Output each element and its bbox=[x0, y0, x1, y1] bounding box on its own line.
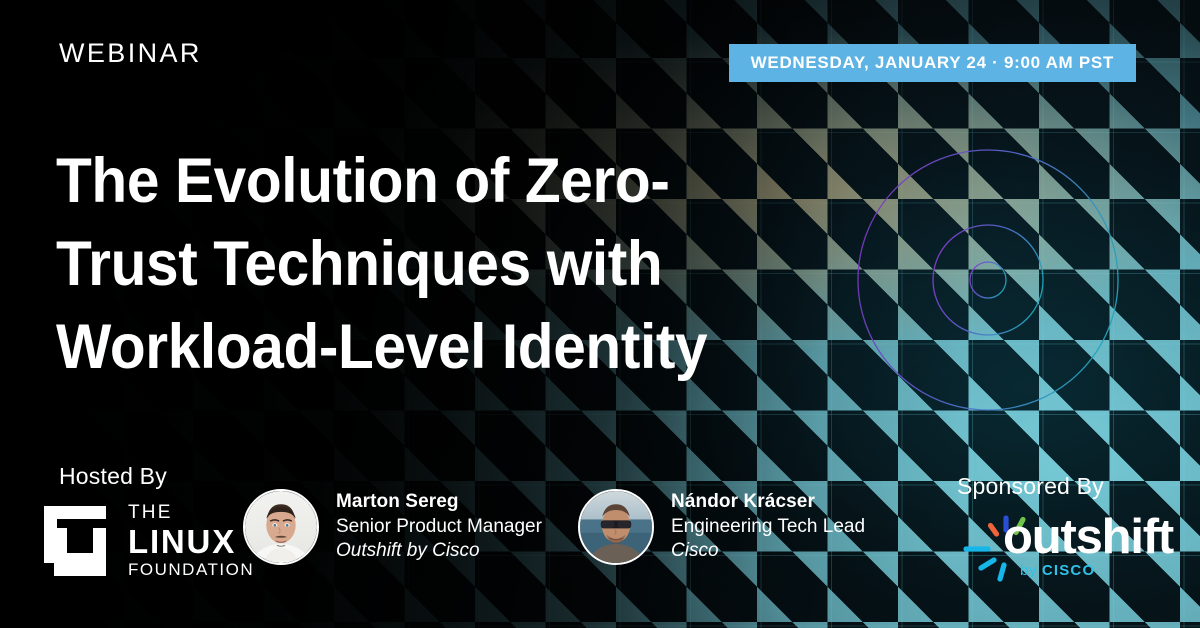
speaker-role: Engineering Tech Lead bbox=[671, 515, 865, 540]
avatar-photo bbox=[580, 491, 652, 563]
outshift-tagline-prefix: by bbox=[1020, 562, 1042, 579]
speaker-role: Senior Product Manager bbox=[336, 515, 542, 540]
hosted-by-label: Hosted By bbox=[59, 463, 167, 490]
lf-line-the: THE bbox=[128, 503, 254, 522]
webinar-promo-card: WEBINAR WEDNESDAY, JANUARY 24 · 9:00 AM … bbox=[0, 0, 1200, 628]
outshift-tagline-brand: CISCO bbox=[1042, 562, 1096, 579]
eyebrow-label: WEBINAR bbox=[59, 40, 202, 67]
marton-sereg-avatar bbox=[243, 489, 319, 565]
speaker-card: Marton Sereg Senior Product Manager Outs… bbox=[243, 489, 542, 565]
lf-line-foundation: FOUNDATION bbox=[128, 561, 254, 578]
date-badge: WEDNESDAY, JANUARY 24 · 9:00 AM PST bbox=[729, 44, 1136, 82]
linux-foundation-mark-icon bbox=[44, 506, 116, 576]
page-title: The Evolution of Zero-Trust Techniques w… bbox=[56, 140, 809, 389]
nandor-kracser-avatar bbox=[578, 489, 654, 565]
the-linux-foundation-logo: THE LINUX FOUNDATION bbox=[44, 503, 254, 578]
speaker-org: Cisco bbox=[671, 539, 865, 564]
outshift-tagline: by CISCO bbox=[1020, 563, 1095, 578]
speaker-card: Nándor Krácser Engineering Tech Lead Cis… bbox=[578, 489, 865, 565]
speaker-name: Marton Sereg bbox=[336, 490, 542, 515]
lf-line-linux: LINUX bbox=[128, 525, 254, 558]
avatar-photo bbox=[245, 491, 317, 563]
outshift-wordmark: outshift bbox=[1003, 513, 1173, 562]
speaker-org: Outshift by Cisco bbox=[336, 539, 542, 564]
sponsored-by-label: Sponsored By bbox=[957, 473, 1104, 500]
speaker-name: Nándor Krácser bbox=[671, 490, 865, 515]
